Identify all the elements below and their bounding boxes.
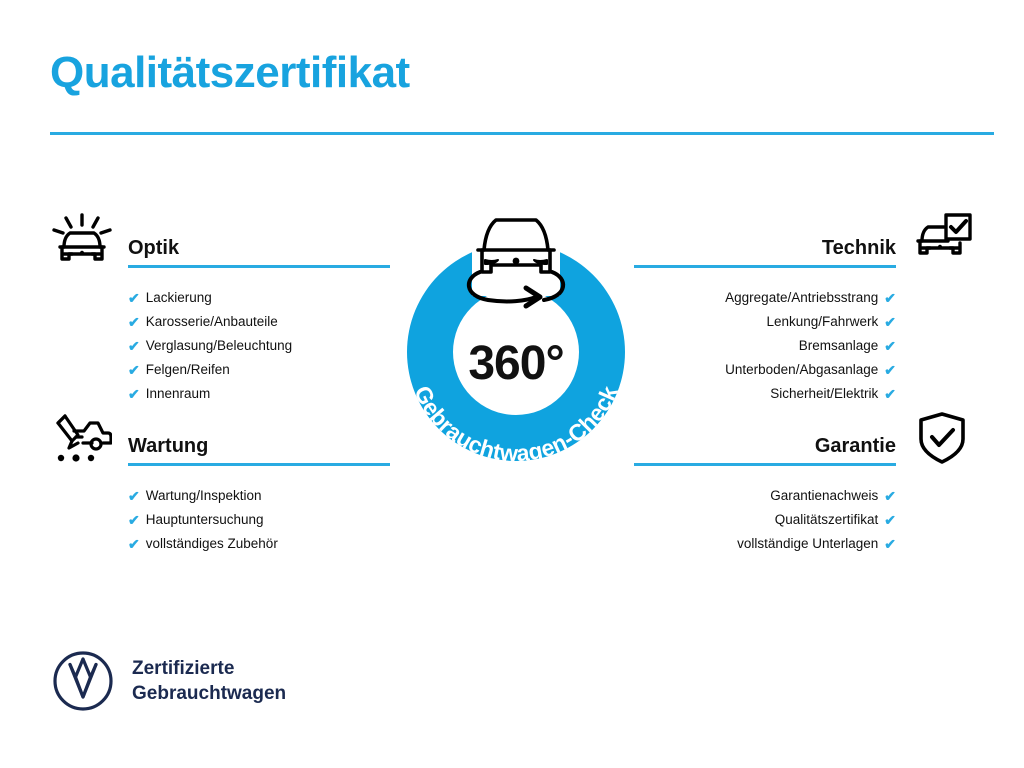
section-technik-list: Aggregate/Antriebsstrang ✔ Lenkung/Fahrw… xyxy=(634,268,974,406)
list-item: vollständige Unterlagen ✔ xyxy=(634,532,896,556)
list-item-label: Innenraum xyxy=(146,382,211,406)
check-icon: ✔ xyxy=(884,358,896,382)
check-icon: ✔ xyxy=(128,382,140,406)
section-technik-title-wrap: Technik xyxy=(634,236,910,268)
check-icon: ✔ xyxy=(128,508,140,532)
section-optik-title-wrap: Optik xyxy=(114,236,390,268)
list-item-label: Lenkung/Fahrwerk xyxy=(766,310,878,334)
section-wartung: Wartung ✔ Wartung/Inspektion ✔ Hauptunte… xyxy=(50,404,390,556)
list-item: ✔ vollständiges Zubehör xyxy=(128,532,390,556)
page-title: Qualitätszertifikat xyxy=(50,48,410,98)
section-title: Wartung xyxy=(128,434,390,458)
list-item-label: Hauptuntersuchung xyxy=(146,508,264,532)
list-item-label: Unterboden/Abgasanlage xyxy=(725,358,878,382)
list-item: Aggregate/Antriebsstrang ✔ xyxy=(634,286,896,310)
section-divider xyxy=(634,265,896,268)
car-checkbox-icon xyxy=(910,212,974,268)
list-item-label: Garantienachweis xyxy=(770,484,878,508)
car-service-pen-icon xyxy=(50,410,114,466)
brand-line-2: Gebrauchtwagen xyxy=(132,681,286,706)
list-item-label: vollständige Unterlagen xyxy=(737,532,878,556)
list-item-label: Felgen/Reifen xyxy=(146,358,230,382)
section-title: Optik xyxy=(128,236,390,260)
section-divider xyxy=(128,265,390,268)
brand-text: Zertifizierte Gebrauchtwagen xyxy=(132,656,286,706)
list-item-label: Qualitätszertifikat xyxy=(775,508,879,532)
list-item: Bremsanlage ✔ xyxy=(634,334,896,358)
list-item: Qualitätszertifikat ✔ xyxy=(634,508,896,532)
certificate-page: Qualitätszertifikat xyxy=(0,0,1024,768)
section-optik-list: ✔ Lackierung ✔ Karosserie/Anbauteile ✔ V… xyxy=(50,268,390,406)
section-title: Technik xyxy=(634,236,896,260)
title-divider xyxy=(50,132,994,135)
section-garantie: Garantie Garantienachweis ✔ Qualitätszer… xyxy=(634,404,974,556)
check-icon: ✔ xyxy=(884,310,896,334)
list-item: ✔ Felgen/Reifen xyxy=(128,358,390,382)
list-item: Garantienachweis ✔ xyxy=(634,484,896,508)
check-icon: ✔ xyxy=(884,286,896,310)
check-icon: ✔ xyxy=(884,484,896,508)
list-item-label: Lackierung xyxy=(146,286,212,310)
list-item: Sicherheit/Elektrik ✔ xyxy=(634,382,896,406)
list-item: ✔ Innenraum xyxy=(128,382,390,406)
list-item: ✔ Hauptuntersuchung xyxy=(128,508,390,532)
list-item-label: vollständiges Zubehör xyxy=(146,532,278,556)
section-title: Garantie xyxy=(634,434,896,458)
section-divider xyxy=(634,463,896,466)
check-icon: ✔ xyxy=(128,358,140,382)
section-divider xyxy=(128,463,390,466)
section-wartung-title-wrap: Wartung xyxy=(114,434,390,466)
check-icon: ✔ xyxy=(128,310,140,334)
check-icon: ✔ xyxy=(128,532,140,556)
vw-logo-icon xyxy=(52,650,114,712)
check-icon: ✔ xyxy=(128,334,140,358)
badge-360-check: Gebrauchtwagen-Check 360° xyxy=(376,200,656,484)
check-icon: ✔ xyxy=(128,484,140,508)
list-item: ✔ Verglasung/Beleuchtung xyxy=(128,334,390,358)
check-icon: ✔ xyxy=(884,532,896,556)
list-item: ✔ Karosserie/Anbauteile xyxy=(128,310,390,334)
check-icon: ✔ xyxy=(884,334,896,358)
shield-check-icon xyxy=(910,410,974,466)
check-icon: ✔ xyxy=(128,286,140,310)
list-item-label: Bremsanlage xyxy=(799,334,879,358)
section-optik-header: Optik xyxy=(50,206,390,268)
section-garantie-header: Garantie xyxy=(634,404,974,466)
list-item-label: Sicherheit/Elektrik xyxy=(770,382,878,406)
list-item-label: Verglasung/Beleuchtung xyxy=(146,334,292,358)
section-wartung-list: ✔ Wartung/Inspektion ✔ Hauptuntersuchung… xyxy=(50,466,390,556)
brand-lockup: Zertifizierte Gebrauchtwagen xyxy=(52,650,286,712)
list-item-label: Aggregate/Antriebsstrang xyxy=(725,286,878,310)
list-item: ✔ Lackierung xyxy=(128,286,390,310)
list-item-label: Karosserie/Anbauteile xyxy=(146,310,278,334)
section-garantie-title-wrap: Garantie xyxy=(634,434,910,466)
check-icon: ✔ xyxy=(884,508,896,532)
check-icon: ✔ xyxy=(884,382,896,406)
car-shine-icon xyxy=(50,212,114,268)
section-wartung-header: Wartung xyxy=(50,404,390,466)
list-item: Unterboden/Abgasanlage ✔ xyxy=(634,358,896,382)
list-item-label: Wartung/Inspektion xyxy=(146,484,262,508)
section-garantie-list: Garantienachweis ✔ Qualitätszertifikat ✔… xyxy=(634,466,974,556)
badge-center-label: 360° xyxy=(376,336,656,391)
list-item: ✔ Wartung/Inspektion xyxy=(128,484,390,508)
brand-line-1: Zertifizierte xyxy=(132,656,286,681)
list-item: Lenkung/Fahrwerk ✔ xyxy=(634,310,896,334)
section-technik: Technik Aggregate/Antriebsstrang xyxy=(634,206,974,406)
section-optik: Optik ✔ Lackierung ✔ Karosserie/Anbautei… xyxy=(50,206,390,406)
section-technik-header: Technik xyxy=(634,206,974,268)
